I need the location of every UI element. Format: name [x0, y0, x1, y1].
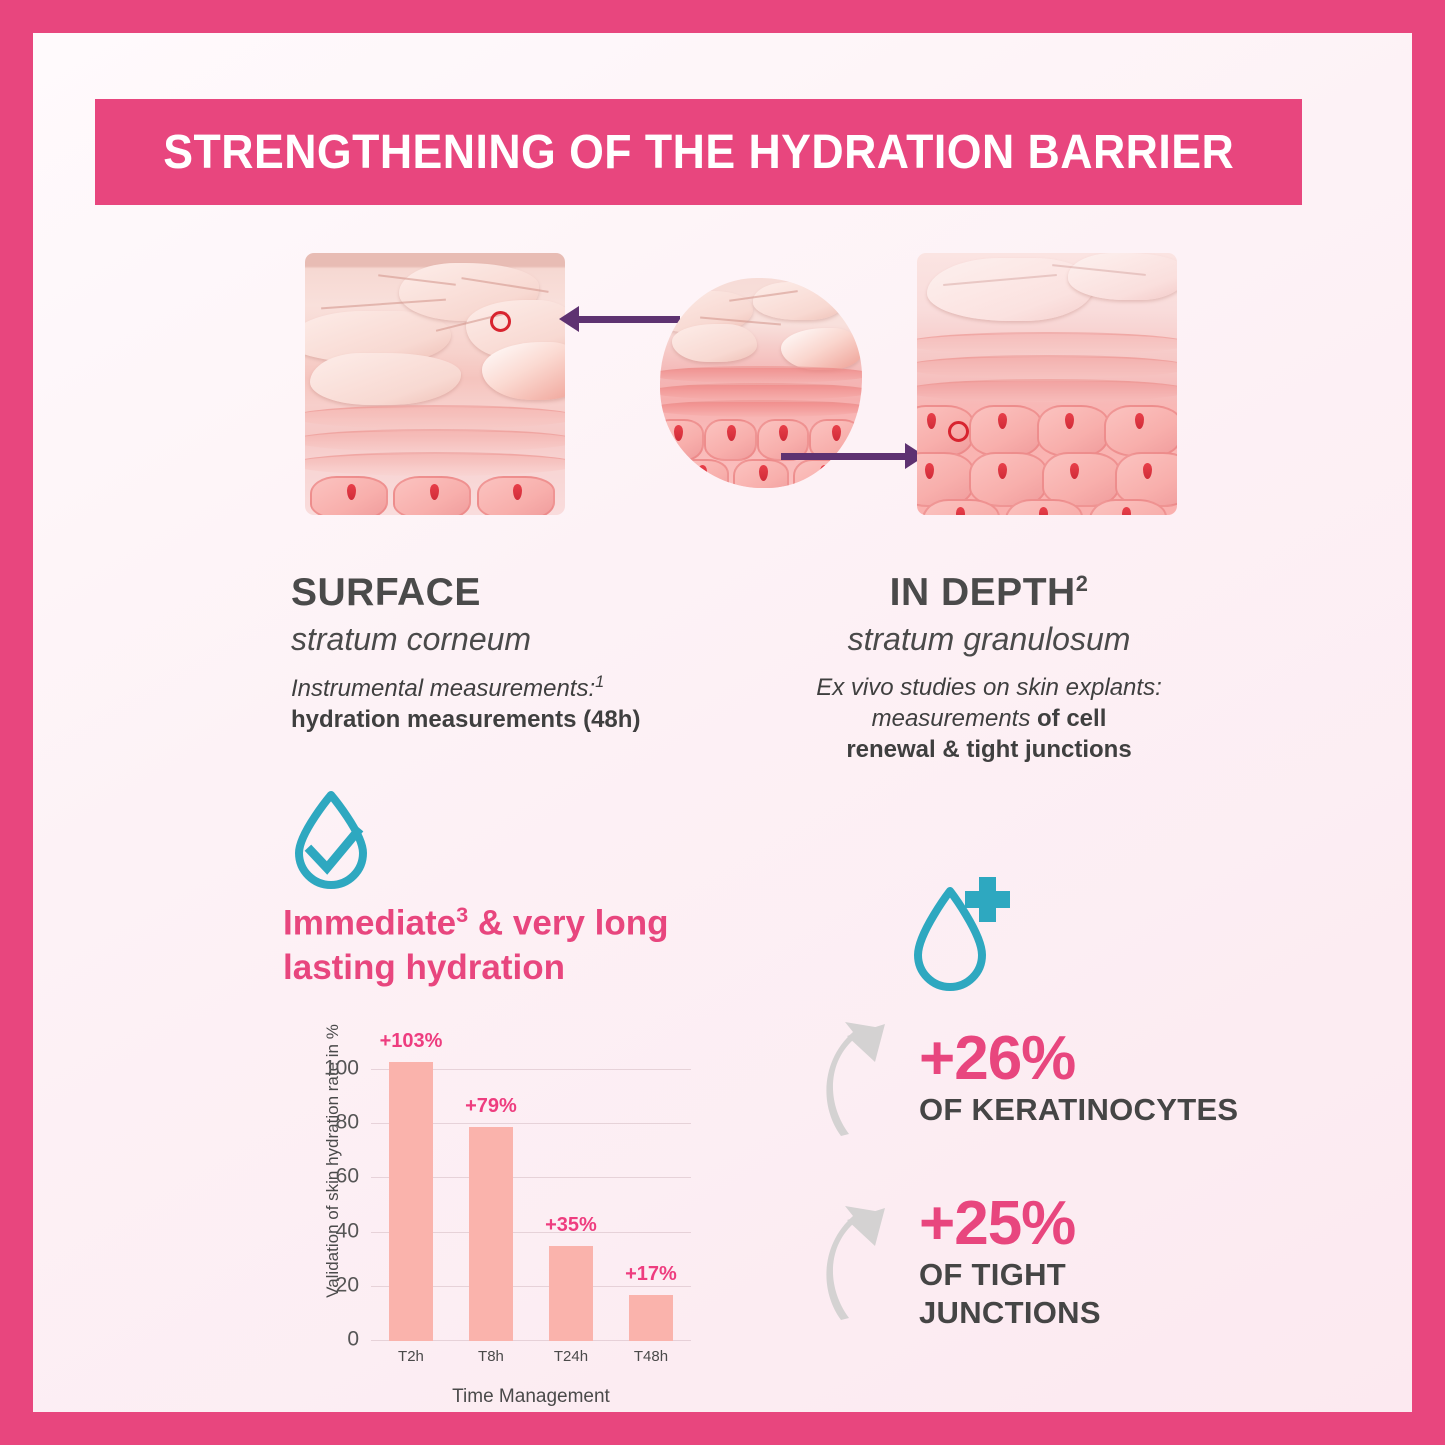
arrow-head-left-icon	[559, 306, 579, 332]
droplet-plus-icon	[906, 871, 1016, 996]
caption-surface-title: SURFACE	[291, 573, 761, 614]
curved-arrow-up-icon	[823, 1018, 905, 1138]
chart-y-tick: 40	[336, 1219, 359, 1243]
connector-line-right	[781, 453, 907, 460]
chart-x-tick: T48h	[634, 1348, 668, 1365]
chart-bar: +79%T8h	[469, 1127, 514, 1341]
footnote-ref-3: 3	[456, 902, 468, 927]
surface-marker-icon	[490, 311, 511, 332]
stat-tight-junctions-caption-line2: JUNCTIONS	[919, 1296, 1101, 1331]
chart-bar-label: +79%	[465, 1095, 517, 1118]
caption-surface: SURFACE stratum corneum Instrumental mea…	[291, 573, 761, 735]
infographic-poster: STRENGTHENING OF THE HYDRATION BARRIER	[0, 0, 1445, 1445]
hydration-headline: Immediate3 & very long lasting hydration	[283, 901, 753, 991]
chart-y-tick: 80	[336, 1111, 359, 1135]
chart-bar: +103%T2h	[389, 1062, 434, 1341]
chart-x-tick: T24h	[554, 1348, 588, 1365]
in-depth-skin-illustration	[917, 253, 1177, 515]
chart-x-axis-label: Time Management	[371, 1386, 691, 1408]
curved-arrow-up-icon	[823, 1202, 905, 1322]
chart-y-tick: 0	[347, 1328, 359, 1352]
caption-in-depth: IN DEPTH2 stratum granulosum Ex vivo stu…	[759, 573, 1219, 765]
chart-plot-area: 020406080100+103%T2h+79%T8h+35%T24h+17%T…	[371, 1043, 691, 1341]
droplet-check-icon	[285, 789, 377, 893]
caption-surface-note-text: Instrumental measurements:	[291, 675, 595, 702]
surface-skin-illustration	[305, 253, 565, 515]
chart-bar-label: +35%	[545, 1214, 597, 1237]
stat-keratinocytes-text: +26% OF KERATINOCYTES	[919, 1028, 1238, 1128]
stat-keratinocytes: +26% OF KERATINOCYTES	[823, 1018, 1238, 1138]
caption-in-depth-title-text: IN DEPTH	[890, 571, 1076, 614]
caption-in-depth-subtitle: stratum granulosum	[759, 622, 1219, 658]
chart-y-tick: 60	[336, 1165, 359, 1189]
caption-in-depth-note-bold: of cell	[1037, 705, 1106, 732]
footnote-ref-1: 1	[595, 673, 604, 691]
chart-x-tick: T8h	[478, 1348, 504, 1365]
hydration-bar-chart: Validation of skin hydration rate in % 0…	[279, 1001, 699, 1412]
caption-in-depth-note-line2: measurements of cell	[759, 703, 1219, 734]
stat-tight-junctions-text: +25% OF TIGHT JUNCTIONS	[919, 1193, 1101, 1330]
illustration-row	[33, 223, 1412, 543]
caption-in-depth-title: IN DEPTH2	[759, 573, 1219, 614]
stat-keratinocytes-value: +26%	[919, 1028, 1238, 1090]
chart-y-tick: 100	[324, 1057, 359, 1081]
chart-bar: +35%T24h	[549, 1246, 594, 1341]
chart-bar-label: +17%	[625, 1263, 677, 1286]
caption-surface-subtitle: stratum corneum	[291, 622, 761, 658]
page-title: STRENGTHENING OF THE HYDRATION BARRIER	[163, 125, 1234, 180]
caption-surface-strong: hydration measurements (48h)	[291, 704, 761, 735]
footnote-ref-2: 2	[1076, 571, 1089, 596]
chart-bar: +17%T48h	[629, 1295, 674, 1341]
stat-keratinocytes-caption: OF KERATINOCYTES	[919, 1093, 1238, 1128]
chart-x-tick: T2h	[398, 1348, 424, 1365]
stat-tight-junctions-caption-line1: OF TIGHT	[919, 1258, 1101, 1293]
caption-in-depth-note-line1: Ex vivo studies on skin explants:	[759, 672, 1219, 703]
stat-tight-junctions-value: +25%	[919, 1193, 1101, 1255]
caption-in-depth-note-italic: measurements	[872, 705, 1037, 732]
poster-canvas: STRENGTHENING OF THE HYDRATION BARRIER	[33, 33, 1412, 1412]
chart-y-tick: 20	[336, 1273, 359, 1297]
caption-in-depth-note-line3: renewal & tight junctions	[759, 734, 1219, 765]
chart-bar-label: +103%	[380, 1030, 443, 1053]
header-banner: STRENGTHENING OF THE HYDRATION BARRIER	[95, 99, 1302, 205]
hydration-headline-part1: Immediate	[283, 904, 456, 943]
stat-tight-junctions: +25% OF TIGHT JUNCTIONS	[823, 1193, 1101, 1330]
caption-surface-note: Instrumental measurements:1	[291, 672, 761, 704]
in-depth-marker-icon	[948, 421, 969, 442]
